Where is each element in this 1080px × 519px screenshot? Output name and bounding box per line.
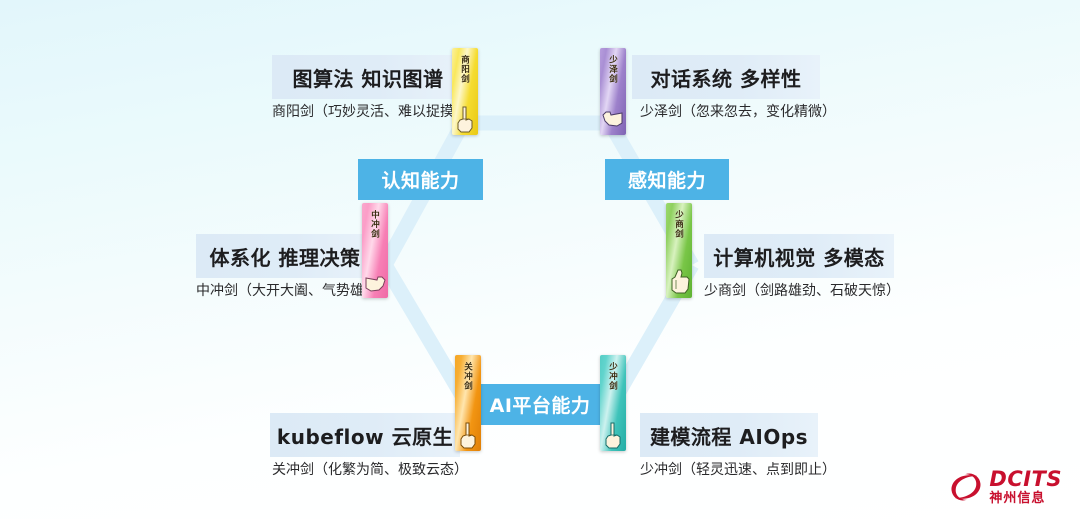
node-subtitle-dialogue-system: 少泽剑（忽来忽去，变化精微） — [640, 101, 836, 121]
dcits-logo: DCITS 神州信息 — [949, 469, 1062, 505]
capability-chip-label: 认知能力 — [381, 166, 459, 193]
node-subtitle-kubeflow-cloudnative: 关冲剑（化繁为简、极致云态） — [272, 459, 468, 479]
sword-bar-guanchong: 关冲剑 — [455, 355, 481, 451]
logo-chinese-text: 神州信息 — [989, 492, 1062, 505]
sword-bar-shaoze: 少泽剑 — [600, 48, 626, 135]
hexagon-connector — [0, 0, 1080, 519]
node-title-text: kubeflow 云原生 — [277, 421, 453, 450]
sword-label: 少商剑 — [674, 210, 685, 239]
node-title-text: 建模流程 AIOps — [650, 421, 808, 450]
capability-chip-cognitive-ability[interactable]: 认知能力 — [358, 159, 483, 200]
sword-label: 关冲剑 — [463, 362, 474, 391]
connector-bottom-left — [385, 265, 466, 402]
node-subtitle-cognitive-graph: 商阳剑（巧妙灵活、难以捉摸） — [272, 101, 468, 121]
node-title-banner-systematic-reasoning: 体系化 推理决策 — [196, 234, 374, 278]
node-subtitle-computer-vision: 少商剑（剑路雄劲、石破天惊） — [704, 280, 900, 300]
logo-english-text: DCITS — [989, 469, 1062, 490]
pointing-up-hand-icon — [457, 419, 479, 449]
node-title-banner-modeling-aiops: 建模流程 AIOps — [640, 413, 818, 457]
dcits-swirl-logo-icon — [949, 470, 983, 504]
sword-bar-shangyang: 商阳剑 — [452, 48, 478, 135]
logo-wordmark: DCITS 神州信息 — [989, 469, 1062, 505]
sword-label: 少冲剑 — [608, 362, 619, 391]
pointing-up-hand-icon — [602, 419, 624, 449]
sword-label: 商阳剑 — [460, 55, 471, 84]
capability-chip-label: AI平台能力 — [490, 391, 591, 418]
pointing-up-hand-icon — [454, 103, 476, 133]
node-title-text: 对话系统 多样性 — [651, 63, 802, 92]
sword-bar-shaoshang: 少商剑 — [666, 203, 692, 298]
pointing-right-hand-icon — [364, 266, 386, 296]
sword-label: 中冲剑 — [370, 210, 381, 239]
sword-bar-zhongchong: 中冲剑 — [362, 203, 388, 298]
capability-chip-ai-platform-ability[interactable]: AI平台能力 — [477, 384, 603, 425]
node-title-banner-cognitive-graph: 图算法 知识图谱 — [272, 55, 464, 99]
sword-label: 少泽剑 — [608, 55, 619, 84]
node-title-text: 计算机视觉 多模态 — [713, 242, 884, 271]
capability-chip-perceptive-ability[interactable]: 感知能力 — [605, 159, 729, 200]
node-title-banner-dialogue-system: 对话系统 多样性 — [632, 55, 820, 99]
node-subtitle-modeling-aiops: 少冲剑（轻灵迅速、点到即止） — [640, 459, 836, 479]
thumbs-up-hand-icon — [668, 266, 690, 296]
diagram-canvas: 图算法 知识图谱 商阳剑（巧妙灵活、难以捉摸） 商阳剑 对话系统 多样性 少泽剑… — [0, 0, 1080, 519]
node-title-text: 体系化 推理决策 — [210, 242, 361, 271]
pointing-left-hand-icon — [602, 103, 624, 133]
node-title-text: 图算法 知识图谱 — [293, 63, 444, 92]
node-title-banner-computer-vision: 计算机视觉 多模态 — [704, 234, 894, 278]
node-title-banner-kubeflow-cloudnative: kubeflow 云原生 — [270, 413, 460, 457]
capability-chip-label: 感知能力 — [628, 166, 706, 193]
sword-bar-shaochong: 少冲剑 — [600, 355, 626, 451]
